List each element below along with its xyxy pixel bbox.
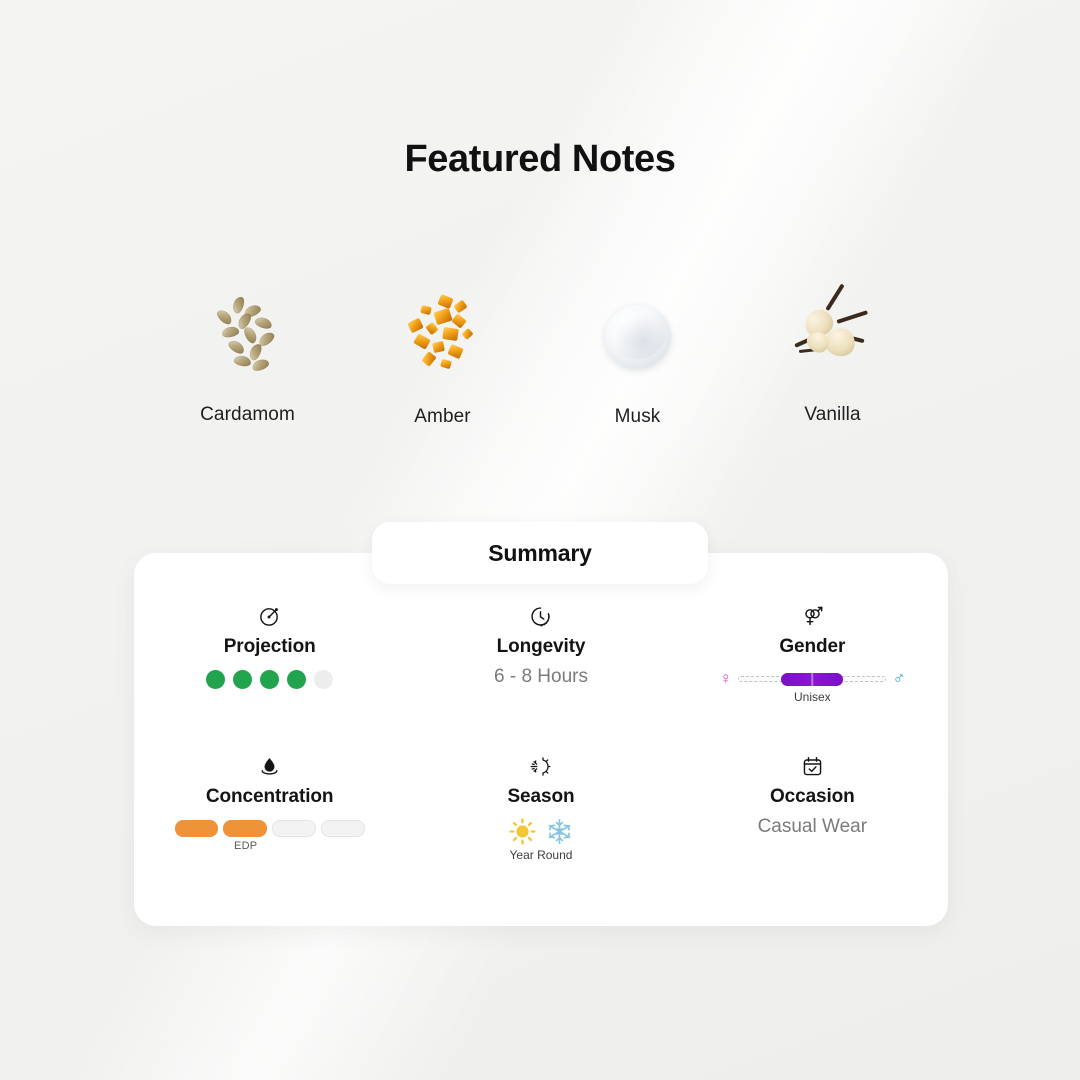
male-mars-icon: ♂ (893, 670, 906, 687)
cell-title: Projection (224, 636, 316, 658)
season-badges (509, 818, 573, 845)
concentration-bar-2 (223, 820, 267, 837)
snowflake-icon (546, 818, 573, 845)
projection-rating-dots[interactable] (206, 670, 333, 689)
concentration-bar-4 (321, 820, 365, 837)
note-item-vanilla[interactable]: Vanilla (735, 292, 930, 452)
sun-icon (509, 818, 536, 845)
summary-grid: Projection Longevity (134, 601, 948, 901)
amber-chunks-icon (395, 292, 491, 388)
calendar-check-icon (801, 751, 824, 781)
gender-slider-thumb[interactable] (812, 673, 814, 686)
summary-cell-gender: Gender ♀ ♂ Unisex (677, 601, 948, 751)
note-label: Vanilla (804, 404, 860, 426)
female-venus-icon: ♀ (719, 670, 732, 687)
projection-dot-2 (233, 670, 252, 689)
gender-slider[interactable]: ♀ ♂ Unisex (719, 670, 905, 706)
concentration-meter[interactable]: EDP (175, 820, 365, 837)
concentration-bar-1 (175, 820, 219, 837)
occasion-value: Casual Wear (758, 816, 867, 838)
cell-title: Gender (779, 636, 845, 658)
note-label: Musk (615, 406, 661, 428)
concentration-bars (175, 820, 365, 837)
summary-header-pill: Summary (372, 522, 708, 584)
featured-notes-row: Cardamom Amber Musk (150, 292, 930, 452)
summary-title: Summary (488, 540, 591, 567)
sun-snowflake-icon (529, 751, 552, 781)
cardamom-pods-icon (200, 292, 296, 388)
concentration-bar-3 (272, 820, 316, 837)
season-value: Year Round (510, 848, 573, 862)
clock-icon (529, 601, 552, 631)
longevity-value: 6 - 8 Hours (494, 666, 588, 688)
note-item-amber[interactable]: Amber (345, 292, 540, 452)
droplet-icon (258, 751, 281, 781)
vanilla-flower-icon (785, 292, 881, 388)
gender-venus-mars-icon (801, 601, 824, 631)
projection-dot-1 (206, 670, 225, 689)
note-item-musk[interactable]: Musk (540, 292, 735, 452)
cell-title: Occasion (770, 786, 855, 808)
gauge-icon (258, 601, 281, 631)
note-label: Cardamom (200, 404, 295, 426)
gender-value: Unisex (719, 690, 905, 704)
musk-ball-icon (590, 292, 686, 388)
projection-dot-5 (314, 670, 333, 689)
summary-card: Projection Longevity (134, 553, 948, 926)
concentration-value: EDP (224, 840, 268, 852)
page-title: Featured Notes (0, 138, 1080, 181)
summary-cell-season: Season (405, 751, 676, 901)
summary-cell-projection: Projection (134, 601, 405, 751)
summary-cell-concentration: Concentration EDP (134, 751, 405, 901)
cell-title: Season (507, 786, 574, 808)
projection-dot-3 (260, 670, 279, 689)
summary-cell-longevity: Longevity 6 - 8 Hours (405, 601, 676, 751)
cell-title: Longevity (497, 636, 586, 658)
cell-title: Concentration (206, 786, 333, 808)
summary-cell-occasion: Occasion Casual Wear (677, 751, 948, 901)
projection-dot-4 (287, 670, 306, 689)
note-item-cardamom[interactable]: Cardamom (150, 292, 345, 452)
note-label: Amber (414, 406, 470, 428)
